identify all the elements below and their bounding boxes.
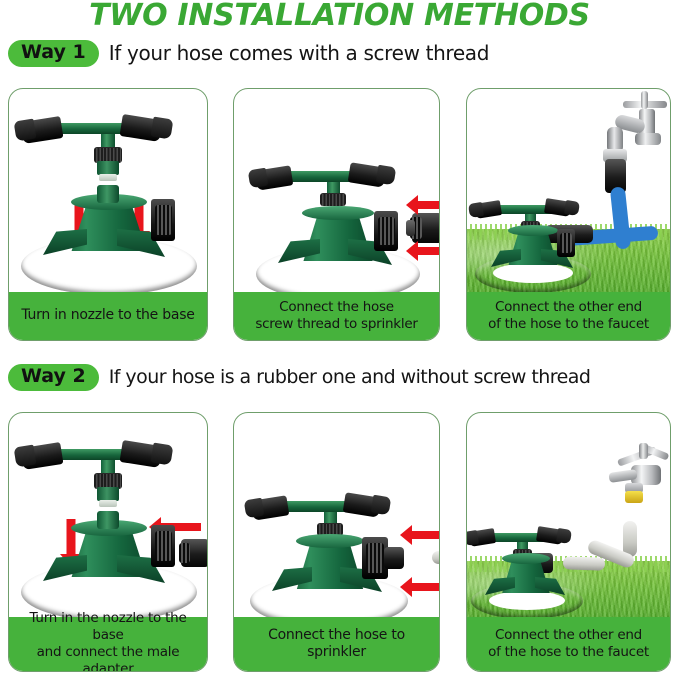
- caption-line-2: and connect the male adapter: [13, 644, 203, 672]
- panel-way2-step3: Connect the other end of the hose to the…: [466, 412, 671, 672]
- way-2-text: If your hose is a rubber one and without…: [109, 366, 591, 388]
- caption-line-2: screw thread to sprinkler: [255, 316, 417, 333]
- left-arrow-icon-bottom: [400, 577, 439, 597]
- caption-way2-step2: Connect the hose to sprinkler: [234, 617, 439, 671]
- caption-line-1: Connect the other end: [488, 627, 649, 644]
- way-1-text: If your hose comes with a screw thread: [109, 41, 489, 65]
- caption-way1-step3: Connect the other end of the hose to the…: [467, 292, 670, 340]
- caption-line-1: Connect the hose to sprinkler: [238, 627, 435, 662]
- panel-way2-step1: Turn in the nozzle to the base and conne…: [8, 412, 208, 672]
- page-title: TWO INSTALLATION METHODS: [0, 0, 679, 33]
- grey-hose-end: [432, 551, 439, 564]
- panel-way1-step1: Turn in nozzle to the base: [8, 88, 208, 341]
- left-arrow-icon-top: [406, 195, 439, 215]
- panel-way2-step2: Connect the hose to sprinkler: [233, 412, 440, 672]
- installation-guide-page: TWO INSTALLATION METHODS Way 1 If your h…: [0, 0, 679, 680]
- way-1-badge: Way 1: [8, 40, 99, 67]
- way-1-heading: Way 1 If your hose comes with a screw th…: [8, 40, 489, 67]
- way-2-heading: Way 2 If your hose is a rubber one and w…: [8, 364, 590, 391]
- caption-way2-step3: Connect the other end of the hose to the…: [467, 617, 670, 671]
- caption-line-1: Connect the hose: [255, 299, 417, 316]
- panel-way1-step3: Connect the other end of the hose to the…: [466, 88, 671, 341]
- caption-line-1: Connect the other end: [488, 299, 649, 316]
- caption-line-2: of the hose to the faucet: [488, 644, 649, 661]
- left-arrow-icon-bottom: [406, 241, 439, 261]
- way-2-badge: Way 2: [8, 364, 99, 391]
- caption-way1-step2: Connect the hose screw thread to sprinkl…: [234, 292, 439, 340]
- caption-way2-step1: Turn in the nozzle to the base and conne…: [9, 617, 207, 671]
- caption-line-2: of the hose to the faucet: [488, 316, 649, 333]
- caption-way1-step1: Turn in nozzle to the base: [9, 292, 207, 340]
- caption-line-1: Turn in the nozzle to the base: [13, 610, 203, 644]
- caption-line-1: Turn in nozzle to the base: [21, 307, 194, 325]
- left-arrow-icon-top: [400, 525, 439, 545]
- panel-way1-step2: Connect the hose screw thread to sprinkl…: [233, 88, 440, 341]
